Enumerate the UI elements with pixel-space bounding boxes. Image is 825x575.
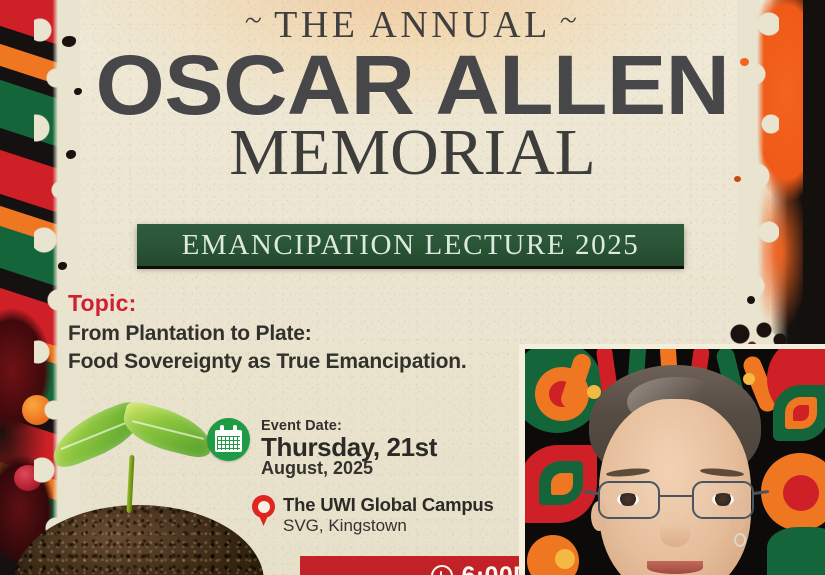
earring <box>734 533 746 547</box>
lecture-banner-label: EMANCIPATION LECTURE 2025 <box>182 229 640 262</box>
topic-line-1: From Plantation to Plate: <box>68 320 467 348</box>
page-title: OSCAR ALLEN <box>0 47 825 124</box>
location-pin-icon <box>252 495 275 526</box>
seedling-leaf-right <box>119 399 218 460</box>
speaker-portrait-frame <box>519 344 825 575</box>
clock-icon <box>431 565 453 575</box>
event-venue-text: The UWI Global Campus SVG, Kingstown <box>283 495 494 535</box>
dash-ornament-right: ~ <box>557 6 583 37</box>
right-ink-dot <box>747 296 755 304</box>
eyeglasses <box>592 481 760 521</box>
event-date-text: Event Date: Thursday, 21st August, 2025 <box>261 418 437 477</box>
event-date-day: Thursday, 21st <box>261 434 437 461</box>
speaker-face <box>584 365 766 575</box>
page-subtitle: MEMORIAL <box>0 120 825 186</box>
nose <box>660 523 690 547</box>
event-venue-row: The UWI Global Campus SVG, Kingstown <box>252 495 494 535</box>
venue-locality: SVG, Kingstown <box>283 516 494 536</box>
lecture-banner: EMANCIPATION LECTURE 2025 <box>137 224 684 266</box>
speaker-portrait-photo <box>525 349 825 575</box>
topic-label: Topic: <box>68 290 136 317</box>
dash-ornament-left: ~ <box>242 6 268 37</box>
topic-text: From Plantation to Plate: Food Sovereign… <box>68 320 467 376</box>
poster-canvas: ~THE ANNUAL~ OSCAR ALLEN MEMORIAL EMANCI… <box>0 0 825 575</box>
mouth <box>647 561 703 574</box>
topic-line-2: Food Sovereignty as True Emancipation. <box>68 348 467 376</box>
event-date-row: Event Date: Thursday, 21st August, 2025 <box>207 418 437 477</box>
venue-name: The UWI Global Campus <box>283 495 494 516</box>
calendar-icon <box>207 418 250 461</box>
poster-heading-block: ~THE ANNUAL~ OSCAR ALLEN MEMORIAL <box>0 0 825 186</box>
